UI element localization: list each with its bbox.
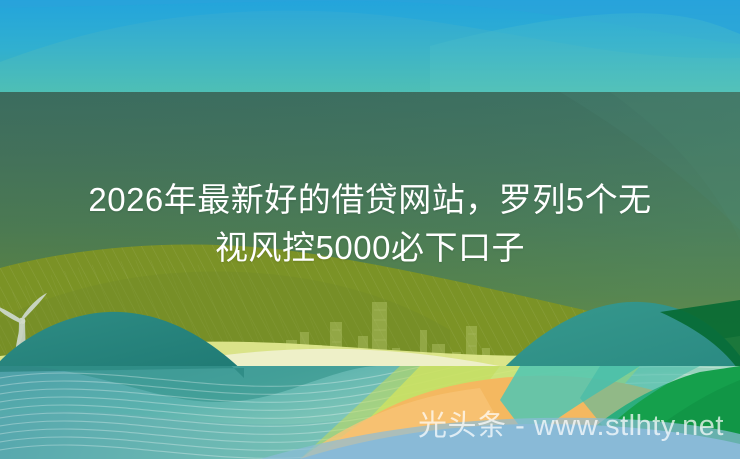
promo-banner: 2026年最新好的借贷网站，罗列5个无 视风控5000必下口子 光头条 - ww…	[0, 0, 740, 459]
watermark-text: 光头条 - www.stlhty.net	[418, 409, 724, 443]
accent-shapes-layer	[0, 0, 740, 459]
